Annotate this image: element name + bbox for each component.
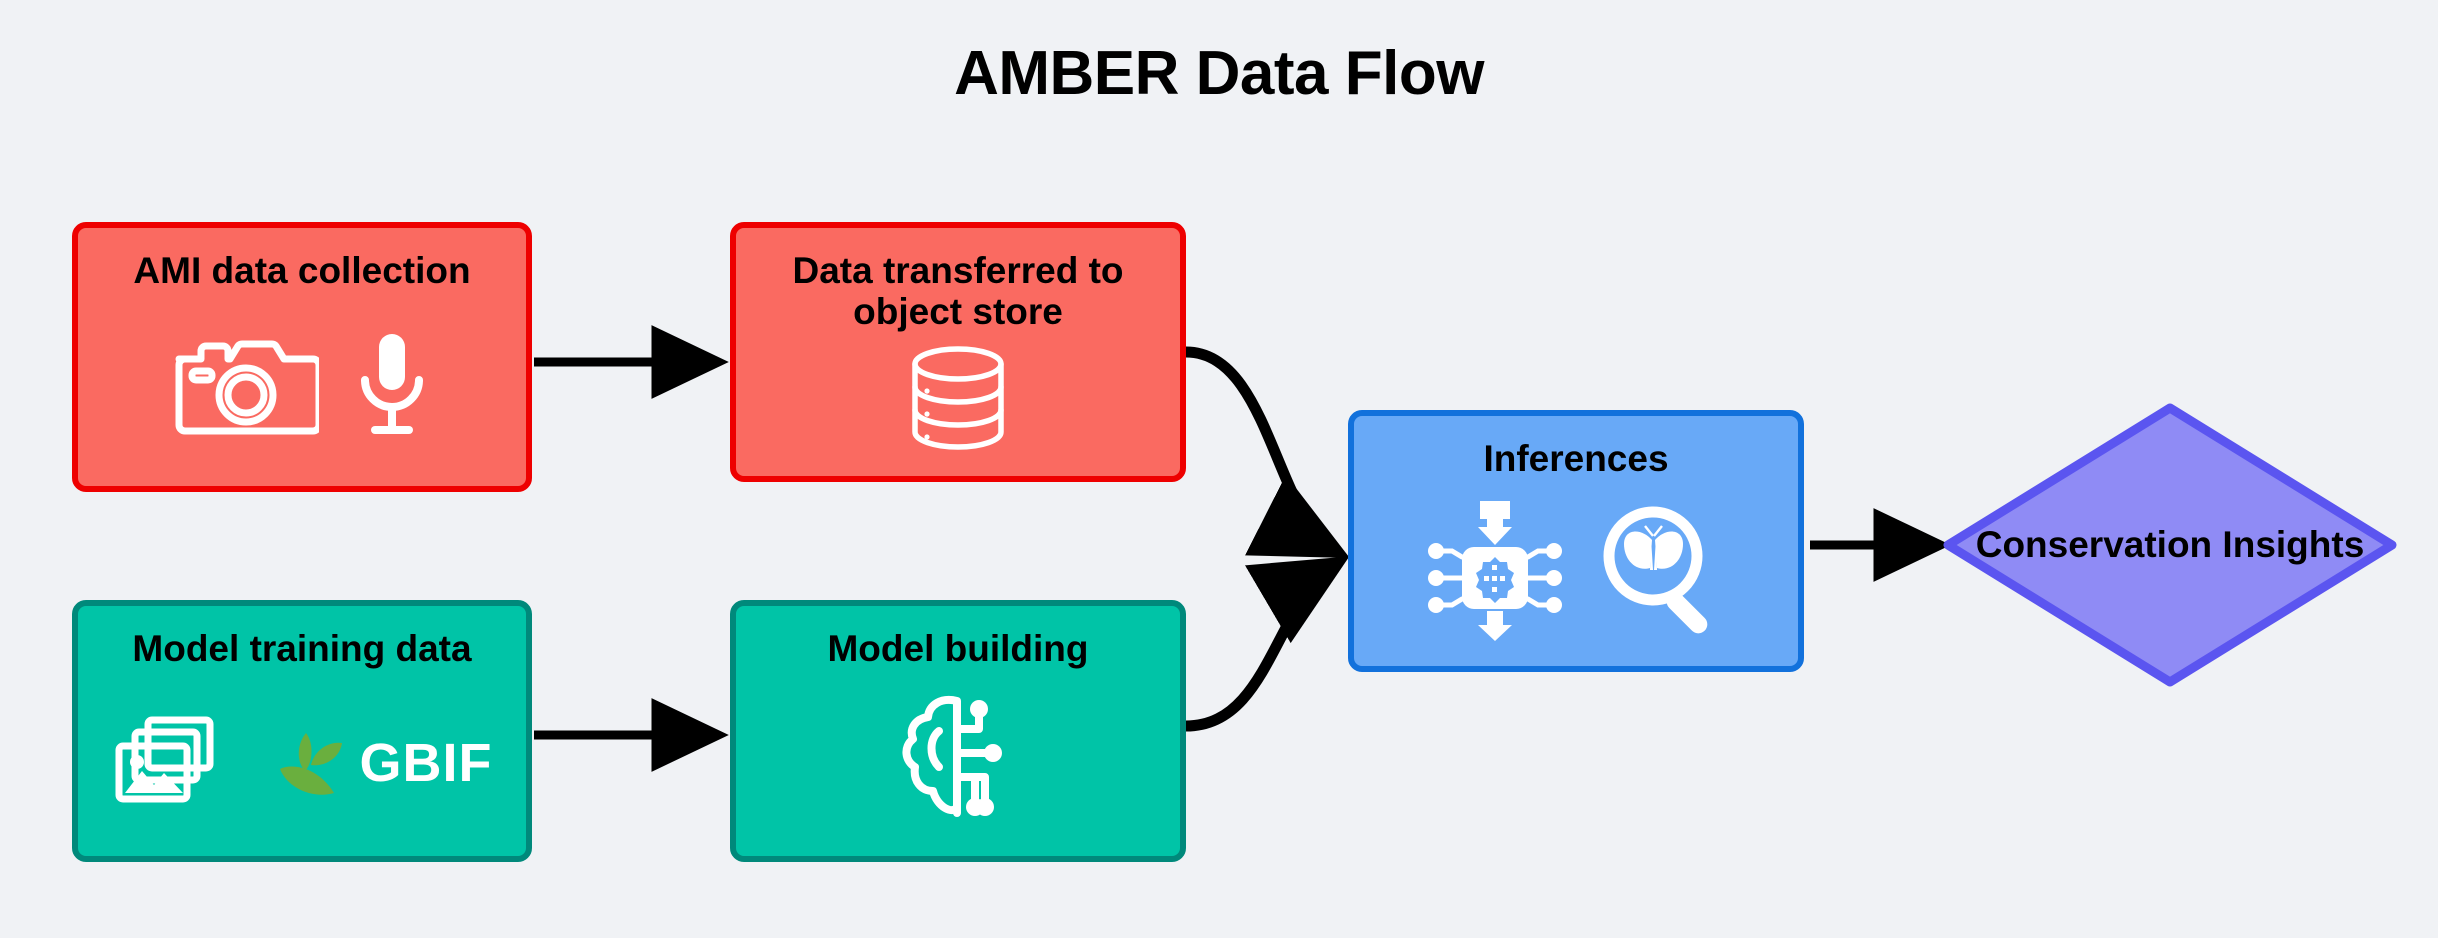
node-ami-data-collection[interactable]: AMI data collection [72,222,532,492]
icon-row [1354,479,1798,666]
brain-circuit-icon [895,691,1021,828]
node-model-training-data[interactable]: Model training data [72,600,532,862]
gbif-wordmark: GBIF [360,736,493,790]
node-inferences[interactable]: Inferences [1348,410,1804,672]
edge-building-to-inferences [1186,563,1338,726]
node-label: Model training data [78,628,526,669]
image-stack-icon [112,714,216,811]
microphone-icon [353,330,431,447]
butterfly-magnifier-icon [1596,502,1728,643]
icon-row [736,333,1180,476]
node-data-transferred-to-object-store[interactable]: Data transferred to object store [730,222,1186,482]
ai-chip-icon [1424,497,1566,648]
page-title: AMBER Data Flow [0,38,2438,109]
camera-icon [173,333,319,444]
node-label: Inferences [1354,438,1798,479]
gbif-logo-icon: GBIF [276,723,493,803]
diagram-canvas: AMBER Data Flow AMI data collection [0,0,2438,938]
node-label: Conservation Insights [1940,400,2400,690]
node-conservation-insights[interactable]: Conservation Insights [1940,400,2400,690]
icon-row [736,669,1180,856]
node-label: Data transferred to object store [736,250,1180,333]
node-label: AMI data collection [78,250,526,291]
database-icon [906,345,1010,456]
icon-row: GBIF [78,669,526,856]
edge-store-to-inferences [1186,352,1338,552]
node-label: Model building [736,628,1180,669]
node-model-building[interactable]: Model building [730,600,1186,862]
icon-row [78,291,526,486]
